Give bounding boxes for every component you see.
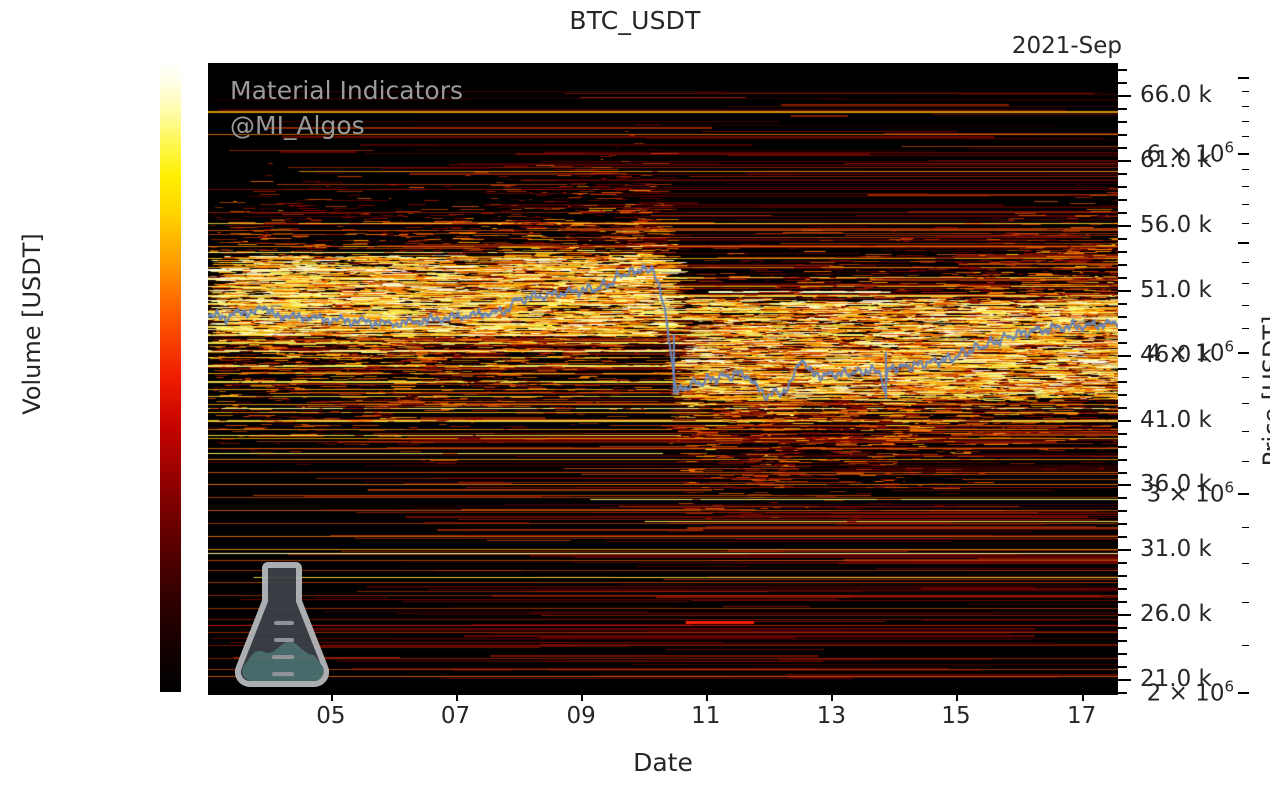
colorbar-major-tick [1238,77,1249,79]
price-minor-tick [1118,277,1127,279]
price-minor-tick [1118,173,1127,175]
volume-colorbar [160,63,181,692]
price-major-tick [1118,484,1131,486]
colorbar-major-tick [1238,692,1249,694]
price-minor-tick [1118,459,1127,461]
volume-axis-title: Volume [USDT] [18,174,46,474]
colorbar-major-tick [1238,242,1249,244]
price-minor-tick [1118,303,1127,305]
price-minor-tick [1118,640,1127,642]
price-tick-label: 56.0 k [1140,212,1212,238]
colorbar-minor-tick [1242,602,1249,603]
colorbar-minor-tick [1242,136,1249,137]
colorbar-minor-tick [1242,328,1249,329]
colorbar-minor-tick [1242,527,1249,528]
date-axis-title: Date [208,748,1118,777]
colorbar-minor-tick [1242,403,1249,404]
price-minor-tick [1118,588,1127,590]
date-tick [831,692,833,701]
price-minor-tick [1118,108,1127,110]
date-tick-label: 07 [441,703,470,729]
price-minor-tick [1118,627,1127,629]
price-tick-label: 46.0 k [1140,342,1212,368]
date-tick-label: 17 [1067,703,1096,729]
price-major-tick [1118,614,1131,616]
price-major-tick [1118,95,1131,97]
colorbar-minor-tick [1242,431,1249,432]
price-minor-tick [1118,342,1127,344]
price-axis-title: Price [USDT] [1258,251,1270,531]
price-tick-label: 31.0 k [1140,536,1212,562]
price-tick-label: 21.0 k [1140,666,1212,692]
liquidity-heatmap-plot[interactable]: Material Indicators @MI_Algos [208,63,1118,692]
price-minor-tick [1118,601,1127,603]
date-tick-label: 15 [941,703,970,729]
price-minor-tick [1118,433,1127,435]
date-tick [1082,692,1084,701]
date-tick-label: 11 [691,703,720,729]
colorbar-minor-tick [1242,186,1249,187]
chart-page: BTC_USDT 2021-Sep 2 × 1063 × 1064 × 1066… [0,0,1270,788]
price-minor-tick [1118,407,1127,409]
price-minor-tick [1118,562,1127,564]
price-major-tick [1118,549,1131,551]
price-minor-tick [1118,536,1127,538]
colorbar-minor-tick [1242,223,1249,224]
colorbar-minor-tick [1242,461,1249,462]
price-minor-tick [1118,199,1127,201]
colorbar-major-tick [1238,352,1249,354]
colorbar-gradient [160,63,181,692]
price-minor-tick [1118,692,1127,694]
colorbar-minor-tick [1242,377,1249,378]
price-tick-label: 61.0 k [1140,147,1212,173]
price-tick-label: 41.0 k [1140,407,1212,433]
price-minor-tick [1118,666,1127,668]
price-minor-tick [1118,497,1127,499]
date-tick [956,692,958,701]
price-major-tick [1118,160,1131,162]
price-tick-label: 26.0 k [1140,601,1212,627]
price-minor-tick [1118,238,1127,240]
date-tick [706,692,708,701]
colorbar-major-tick [1238,153,1249,155]
colorbar-minor-tick [1242,645,1249,646]
date-tick-label: 13 [817,703,846,729]
price-minor-tick [1118,653,1127,655]
date-tick-label: 09 [566,703,595,729]
price-minor-tick [1118,251,1127,253]
date-tick [581,692,583,701]
colorbar-minor-tick [1242,262,1249,263]
price-minor-tick [1118,523,1127,525]
price-minor-tick [1118,212,1127,214]
price-minor-tick [1118,121,1127,123]
heatmap-canvas [208,63,1118,692]
price-minor-tick [1118,186,1127,188]
period-label: 2021-Sep [1012,33,1122,59]
colorbar-minor-tick [1242,106,1249,107]
price-minor-tick [1118,394,1127,396]
price-tick-label: 66.0 k [1140,82,1212,108]
date-tick [331,692,333,701]
price-minor-tick [1118,446,1127,448]
colorbar-major-tick [1238,493,1249,495]
price-major-tick [1118,290,1131,292]
colorbar-minor-tick [1242,283,1249,284]
colorbar-minor-tick [1242,204,1249,205]
date-tick [456,692,458,701]
price-minor-tick [1118,329,1127,331]
price-minor-tick [1118,264,1127,266]
price-tick-label: 36.0 k [1140,471,1212,497]
price-major-tick [1118,679,1131,681]
price-minor-tick [1118,575,1127,577]
price-minor-tick [1118,381,1127,383]
price-tick-label: 51.0 k [1140,277,1212,303]
price-major-tick [1118,225,1131,227]
price-minor-tick [1118,82,1127,84]
page-title: BTC_USDT [0,6,1270,35]
colorbar-minor-tick [1242,121,1249,122]
price-minor-tick [1118,134,1127,136]
price-minor-tick [1118,147,1127,149]
date-tick-label: 05 [316,703,345,729]
price-major-tick [1118,420,1131,422]
colorbar-minor-tick [1242,91,1249,92]
colorbar-minor-tick [1242,563,1249,564]
price-minor-tick [1118,69,1127,71]
date-axis-line [208,692,1118,695]
price-minor-tick [1118,510,1127,512]
price-minor-tick [1118,368,1127,370]
price-minor-tick [1118,316,1127,318]
colorbar-minor-tick [1242,169,1249,170]
price-minor-tick [1118,472,1127,474]
colorbar-minor-tick [1242,305,1249,306]
price-major-tick [1118,355,1131,357]
